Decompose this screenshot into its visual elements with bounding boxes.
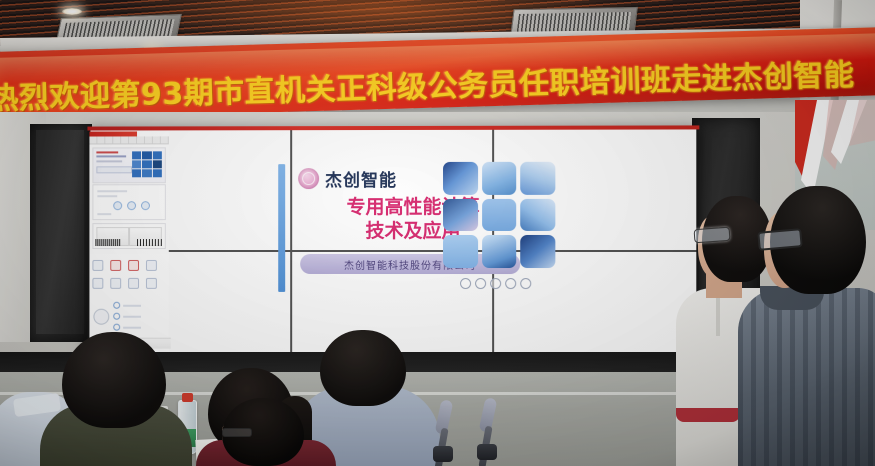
radio-option[interactable] [113,313,141,320]
options-card[interactable] [92,184,165,220]
glasses-icon [222,428,252,437]
slide-image-tile [521,162,556,195]
option-circle-icon[interactable] [127,201,136,210]
slide-image-tile [521,199,556,232]
company-logo: 杰创智能 [298,166,397,191]
slide-pagination-dots[interactable] [460,278,531,289]
logo-text: 杰创智能 [325,166,397,191]
radio-option[interactable] [113,324,141,331]
option-circle-icon[interactable] [141,201,150,210]
pagination-dot-icon[interactable] [520,278,531,289]
slide-image-tile [482,199,517,232]
video-wall[interactable]: 杰创智能 专用高性能计算 技术及应用 杰创智能科技股份有限公司 [87,125,699,376]
option-circle-icon[interactable] [113,201,122,210]
form-card[interactable] [92,147,165,183]
tool-icon[interactable] [110,278,121,289]
pagination-dot-icon[interactable] [460,278,471,289]
presentation-slide: 杰创智能 专用高性能计算 技术及应用 杰创智能科技股份有限公司 [278,156,578,301]
slide-image-tile [443,199,478,232]
tool-icon[interactable] [128,260,139,271]
red-sleeve-trim [676,408,740,422]
wall-panel-left-inner [36,130,84,334]
slide-image-tile [443,235,478,268]
slide-image-tile [482,235,517,268]
document-preview-card[interactable] [92,223,165,249]
pagination-dot-icon[interactable] [505,278,516,289]
slide-image-tile [482,162,517,195]
slide-image-grid [443,162,555,268]
pagination-dot-icon[interactable] [490,278,501,289]
barcode-icon [137,239,163,246]
tool-icon[interactable] [92,278,103,289]
preview-circle-icon [93,309,109,325]
slide-image-tile [443,162,478,195]
downlight [62,8,82,15]
text-input[interactable] [96,166,132,173]
toolbar-icon-row[interactable] [92,260,156,271]
slide-image-tile [521,235,556,268]
option-button-row[interactable] [113,201,150,210]
barcode-icon [95,239,121,246]
presentation-room-photo: 热烈欢迎第93期市直机关正科级公务员任职培训班走进杰创智能 [0,0,875,466]
slide-accent-bar [278,164,285,292]
tool-icon[interactable] [110,260,121,271]
glasses-icon [694,227,731,243]
tool-icon[interactable] [146,278,157,289]
browser-toolbar[interactable] [89,136,168,144]
tool-icon[interactable] [92,260,103,271]
toolbar-icon-row[interactable] [92,278,156,289]
tool-icon[interactable] [146,260,157,271]
thumbnail-grid[interactable] [132,151,162,177]
pagination-dot-icon[interactable] [475,278,486,289]
glasses-icon [757,228,802,251]
logo-mark-icon [298,168,319,189]
radio-option[interactable] [113,302,141,309]
tool-icon[interactable] [128,278,139,289]
